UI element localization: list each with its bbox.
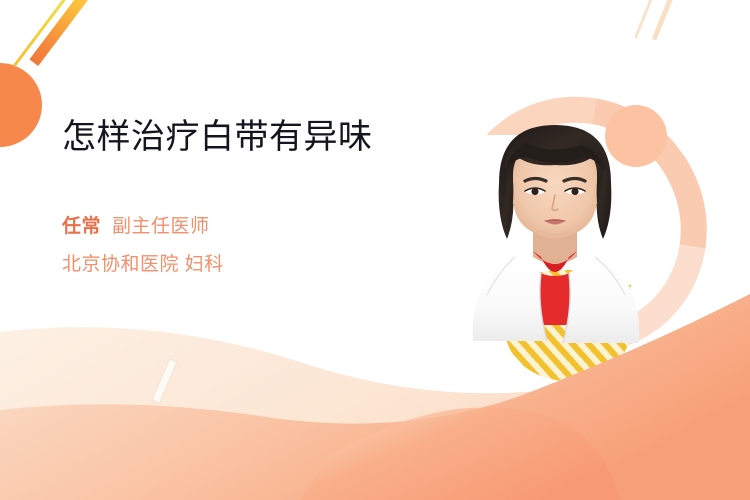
page-title: 怎样治疗白带有异味 (62, 118, 412, 157)
doctor-hospital-line: 北京协和医院 妇科 (62, 251, 412, 280)
diagonal-stripe-topright-b-icon (652, 0, 680, 41)
diagonal-stripe-thick-icon (29, 0, 93, 66)
diagonal-stripe-thin-icon (13, 0, 74, 67)
doctor-rank: 副主任医师 (112, 216, 210, 237)
card-text-block: 怎样治疗白带有异味 任常副主任医师 北京协和医院 妇科 (62, 118, 412, 279)
orange-circle-decoration (0, 63, 42, 147)
diagonal-stripe-outline-icon (151, 358, 177, 404)
doctor-credential-line: 任常副主任医师 (62, 213, 412, 242)
diagonal-stripe-topright-a-icon (634, 0, 657, 39)
doctor-name: 任常 (62, 216, 101, 237)
doctor-portrait (455, 105, 655, 365)
doctor-video-card: 怎样治疗白带有异味 任常副主任医师 北京协和医院 妇科 (0, 0, 750, 500)
